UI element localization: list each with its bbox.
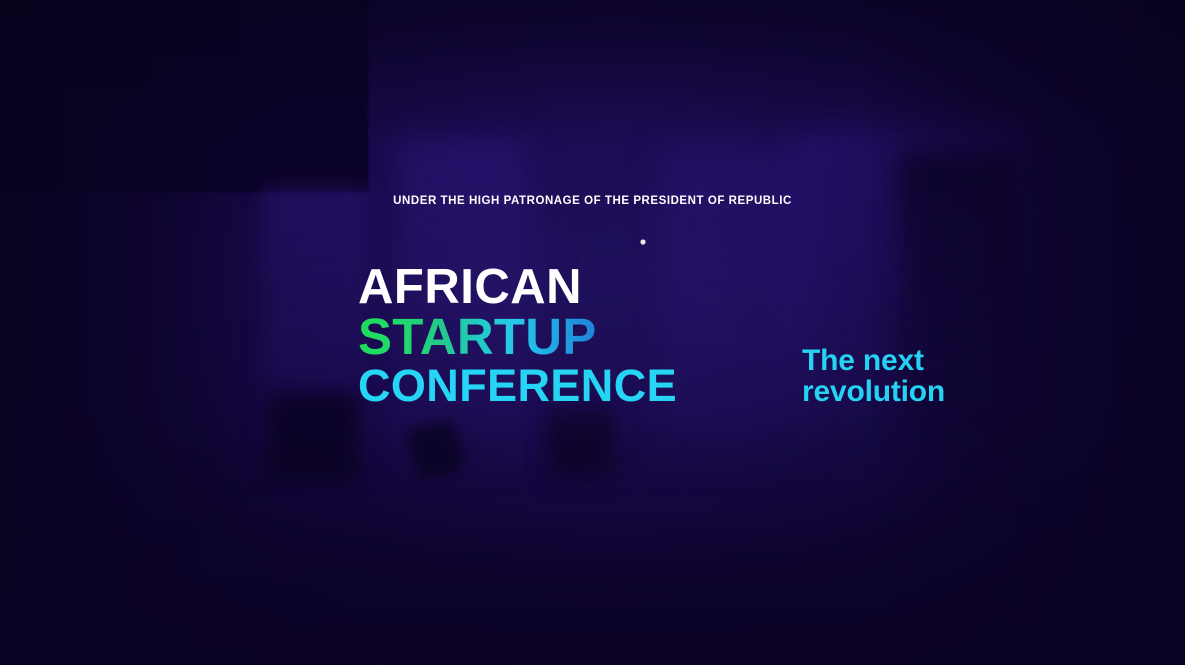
tagline-line-2: revolution bbox=[802, 377, 945, 408]
north-africa-dot bbox=[640, 239, 645, 244]
africa-stripes-icon bbox=[598, 232, 818, 442]
logo-lockup: AFRICAN STARTUP CONFERENCE bbox=[358, 236, 978, 436]
tagline-line-1: The next bbox=[802, 344, 924, 377]
tagline: The next revolution bbox=[802, 346, 945, 407]
patronage-strapline: UNDER THE HIGH PATRONAGE OF THE PRESIDEN… bbox=[0, 195, 1185, 207]
event-banner: UNDER THE HIGH PATRONAGE OF THE PRESIDEN… bbox=[0, 0, 1185, 665]
